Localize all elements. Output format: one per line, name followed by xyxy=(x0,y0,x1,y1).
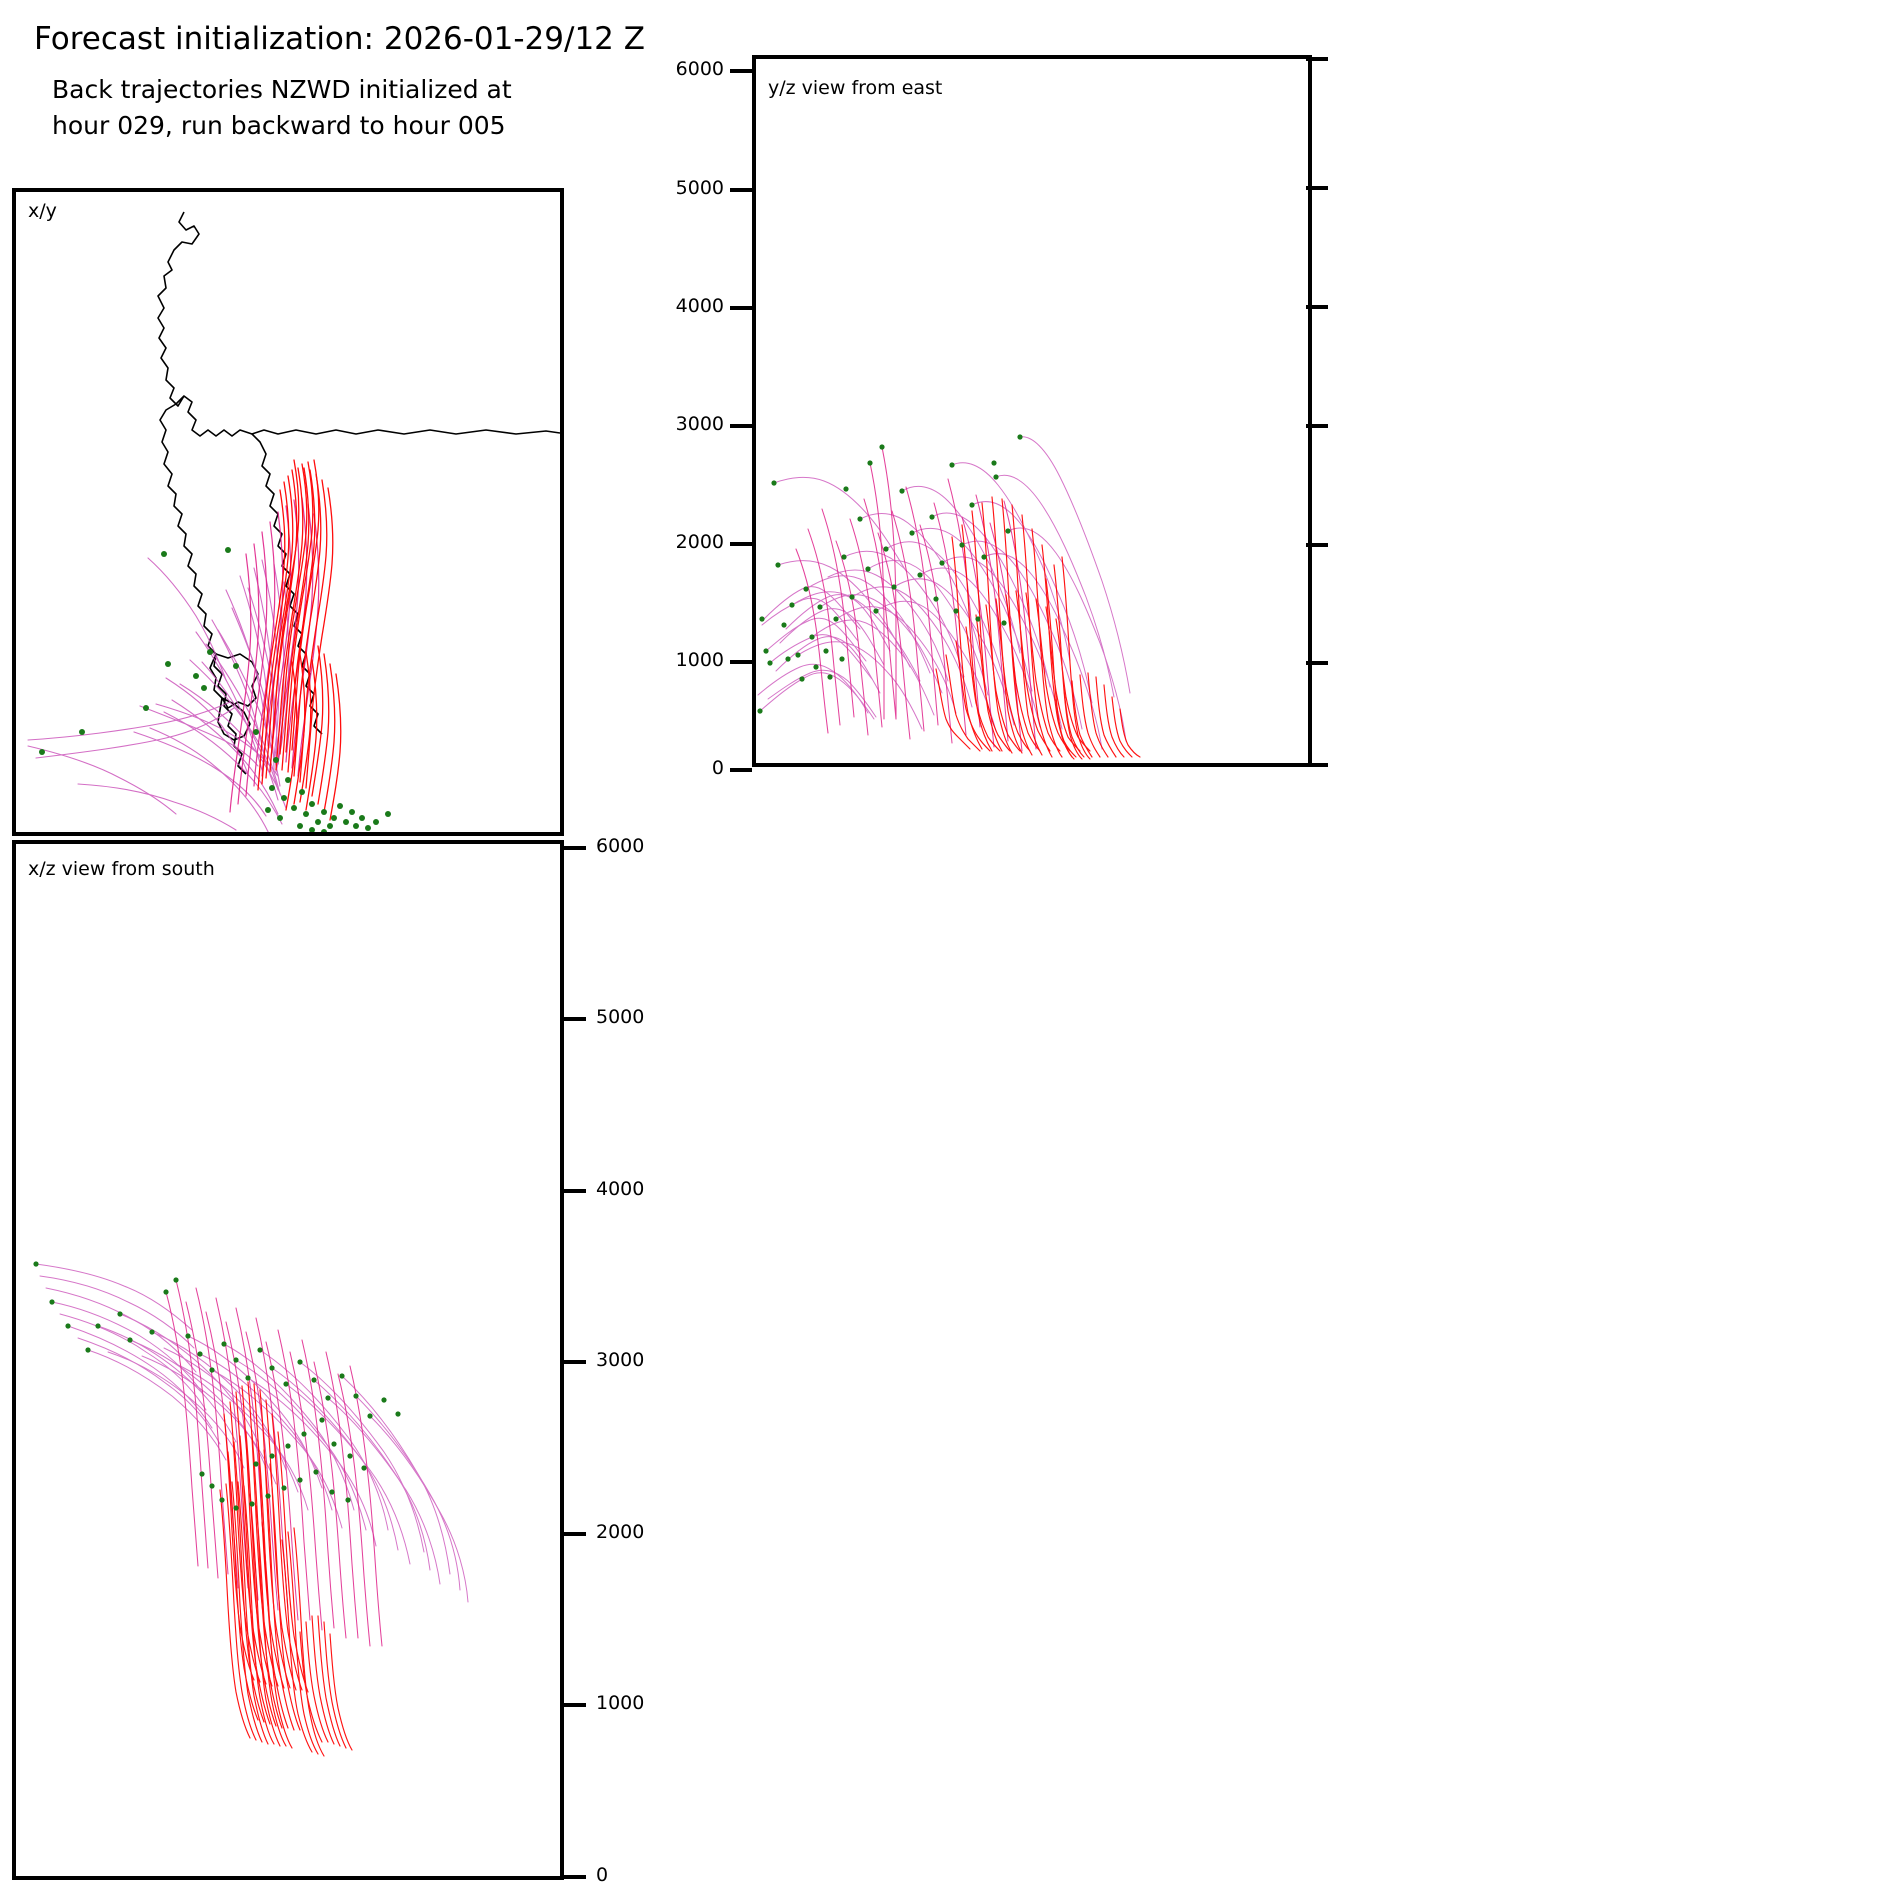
ticklabel-yz-2000: 2000 xyxy=(640,531,724,553)
tick-xz-2000 xyxy=(564,1532,586,1536)
panel-yz-plot-area[interactable]: y/z view from east xyxy=(752,55,1312,767)
tick-xz-1000 xyxy=(564,1703,586,1707)
ticklabel-yz-0: 0 xyxy=(640,757,724,779)
tick-yz-right-4000 xyxy=(1306,305,1328,309)
tick-yz-right-6000 xyxy=(1306,57,1328,61)
panel-xy-plot xyxy=(16,192,560,832)
tick-yz-4000 xyxy=(730,306,752,310)
tick-yz-right-5000 xyxy=(1306,186,1328,190)
page-title: Forecast initialization: 2026-01-29/12 Z xyxy=(34,22,645,58)
trajectory-lines-xy xyxy=(28,460,341,832)
tick-yz-1000 xyxy=(730,660,752,664)
tick-yz-right-0 xyxy=(1306,763,1328,767)
ticklabel-yz-5000: 5000 xyxy=(640,177,724,199)
ticklabel-xz-2000: 2000 xyxy=(596,1521,644,1543)
tick-xz-5000 xyxy=(564,1017,586,1021)
ticklabel-yz-3000: 3000 xyxy=(640,413,724,435)
panel-xz-plot-area[interactable]: x/z view from south xyxy=(12,840,564,1880)
ticklabel-xz-4000: 4000 xyxy=(596,1178,644,1200)
ticklabel-yz-1000: 1000 xyxy=(640,649,724,671)
ticklabel-xz-6000: 6000 xyxy=(596,835,644,857)
panel-xz-plot xyxy=(16,844,560,1876)
tick-xz-4000 xyxy=(564,1189,586,1193)
tick-yz-2000 xyxy=(730,542,752,546)
tick-xz-0 xyxy=(564,1875,586,1879)
ticklabel-xz-3000: 3000 xyxy=(596,1349,644,1371)
ticklabel-xz-5000: 5000 xyxy=(596,1006,644,1028)
tick-xz-3000 xyxy=(564,1360,586,1364)
tick-yz-right-1000 xyxy=(1306,661,1328,665)
ticklabel-yz-6000: 6000 xyxy=(640,58,724,80)
coastline-path xyxy=(158,212,560,774)
panel-yz-plot xyxy=(756,59,1308,763)
panel-yz-label: y/z view from east xyxy=(768,77,942,99)
ticklabel-xz-1000: 1000 xyxy=(596,1692,644,1714)
tick-yz-5000 xyxy=(730,188,752,192)
panel-xz-label: x/z view from south xyxy=(28,858,215,880)
tick-xz-6000 xyxy=(564,846,586,850)
tick-yz-right-3000 xyxy=(1306,424,1328,428)
ticklabel-yz-4000: 4000 xyxy=(640,295,724,317)
panel-xy-label: x/y xyxy=(28,200,57,222)
page-subtitle: Back trajectories NZWD initialized at ho… xyxy=(52,72,512,145)
tick-yz-6000 xyxy=(730,69,752,73)
tick-yz-3000 xyxy=(730,424,752,428)
tick-yz-right-2000 xyxy=(1306,543,1328,547)
tick-yz-0 xyxy=(730,768,752,772)
trajectory-endpoints-xz xyxy=(33,1261,400,1510)
ticklabel-xz-0: 0 xyxy=(596,1864,608,1886)
panel-xy-map[interactable]: x/y xyxy=(12,188,564,836)
